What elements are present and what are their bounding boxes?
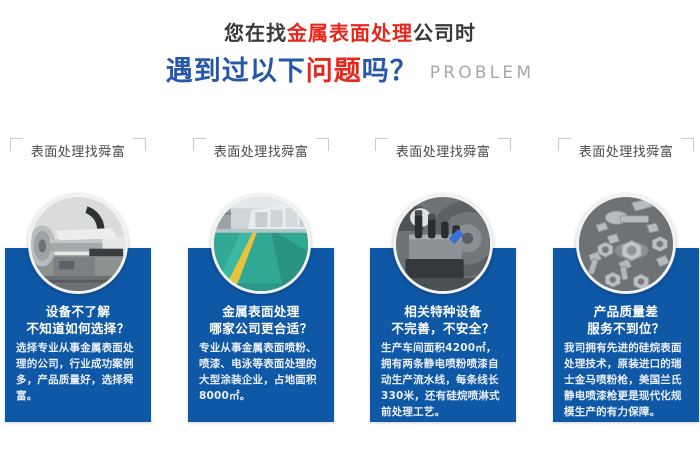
heading-line-1: 您在找金属表面处理公司时 bbox=[0, 18, 700, 48]
card-body-text: 生产车间面积4200㎡，拥有两条静电喷粉喷漆自动生产流水线，每条线长330米，还… bbox=[381, 340, 505, 420]
card-label-frame: 表面处理找舜富 bbox=[375, 138, 511, 166]
card-title: 产品质量差 服务不到位？ bbox=[557, 303, 695, 337]
photo-bolts-nuts-fasteners bbox=[576, 194, 676, 294]
photo-cnc-lathe-machining bbox=[28, 194, 128, 294]
card-label-text: 表面处理找舜富 bbox=[375, 141, 511, 160]
photo-factory-corridor-epoxy-floor bbox=[211, 194, 311, 294]
card-body-text: 专业从事金属表面喷粉、喷漆、电泳等表面处理的大型涂装企业，占地面积8000㎡。 bbox=[199, 340, 323, 404]
card-title: 相关特种设备 不完善，不安全？ bbox=[374, 303, 512, 337]
card-label-text: 表面处理找舜富 bbox=[558, 141, 694, 160]
card-title: 设备不了解 不知道如何选择？ bbox=[9, 303, 147, 337]
card-body-text: 我司拥有先进的硅烷表面处理技术，原装进口的瑞士金马喷粉枪，美国兰氏静电喷漆枪更是… bbox=[564, 340, 688, 420]
card-label-frame: 表面处理找舜富 bbox=[193, 138, 329, 166]
problem-card[interactable]: 表面处理找舜富 设备不了解 不知道如何选择？ 选择专业从事金属表面处理的公司，行… bbox=[5, 138, 151, 428]
heading-line2-part-c: 吗？ bbox=[362, 56, 418, 87]
problem-card[interactable]: 表面处理找舜富 金属表面处理 哪家公司更合适？ 专业从事金属表面喷粉、喷漆、电泳… bbox=[188, 138, 334, 428]
problem-card[interactable]: 表面处理找舜富 产品质量差 服务不到位？ 我司拥有先进的硅烷表面处理技术，原装进… bbox=[553, 138, 699, 428]
card-title: 金属表面处理 哪家公司更合适？ bbox=[192, 303, 330, 337]
heading-line1-suffix: 公司时 bbox=[413, 21, 476, 45]
card-body-text: 选择专业从事金属表面处理的公司，行业成功案例多，产品质量好，选择舜富。 bbox=[16, 340, 140, 404]
page-heading: 您在找金属表面处理公司时 遇到过以下问题吗？PROBLEM bbox=[0, 18, 700, 92]
heading-line2-part-a: 遇到过以下 bbox=[166, 56, 306, 87]
promo-page: 您在找金属表面处理公司时 遇到过以下问题吗？PROBLEM 表面处理找舜富 设备… bbox=[0, 0, 700, 460]
photo-machine-tooling-fixture bbox=[393, 194, 493, 294]
heading-line-2: 遇到过以下问题吗？PROBLEM bbox=[0, 55, 700, 92]
heading-line1-prefix: 您在找 bbox=[224, 21, 287, 45]
card-label-frame: 表面处理找舜富 bbox=[10, 138, 146, 166]
card-label-frame: 表面处理找舜富 bbox=[558, 138, 694, 166]
problem-card-list: 表面处理找舜富 设备不了解 不知道如何选择？ 选择专业从事金属表面处理的公司，行… bbox=[0, 138, 700, 428]
heading-line2-part-b: 问题 bbox=[306, 56, 362, 87]
problem-card[interactable]: 表面处理找舜富 相关特种设备 不完善，不安全？ 生产车间面积4200㎡，拥有两条… bbox=[370, 138, 516, 428]
heading-line1-highlight: 金属表面处理 bbox=[287, 21, 413, 45]
card-label-text: 表面处理找舜富 bbox=[10, 141, 146, 160]
card-label-text: 表面处理找舜富 bbox=[193, 141, 329, 160]
heading-line2-english: PROBLEM bbox=[430, 63, 534, 83]
